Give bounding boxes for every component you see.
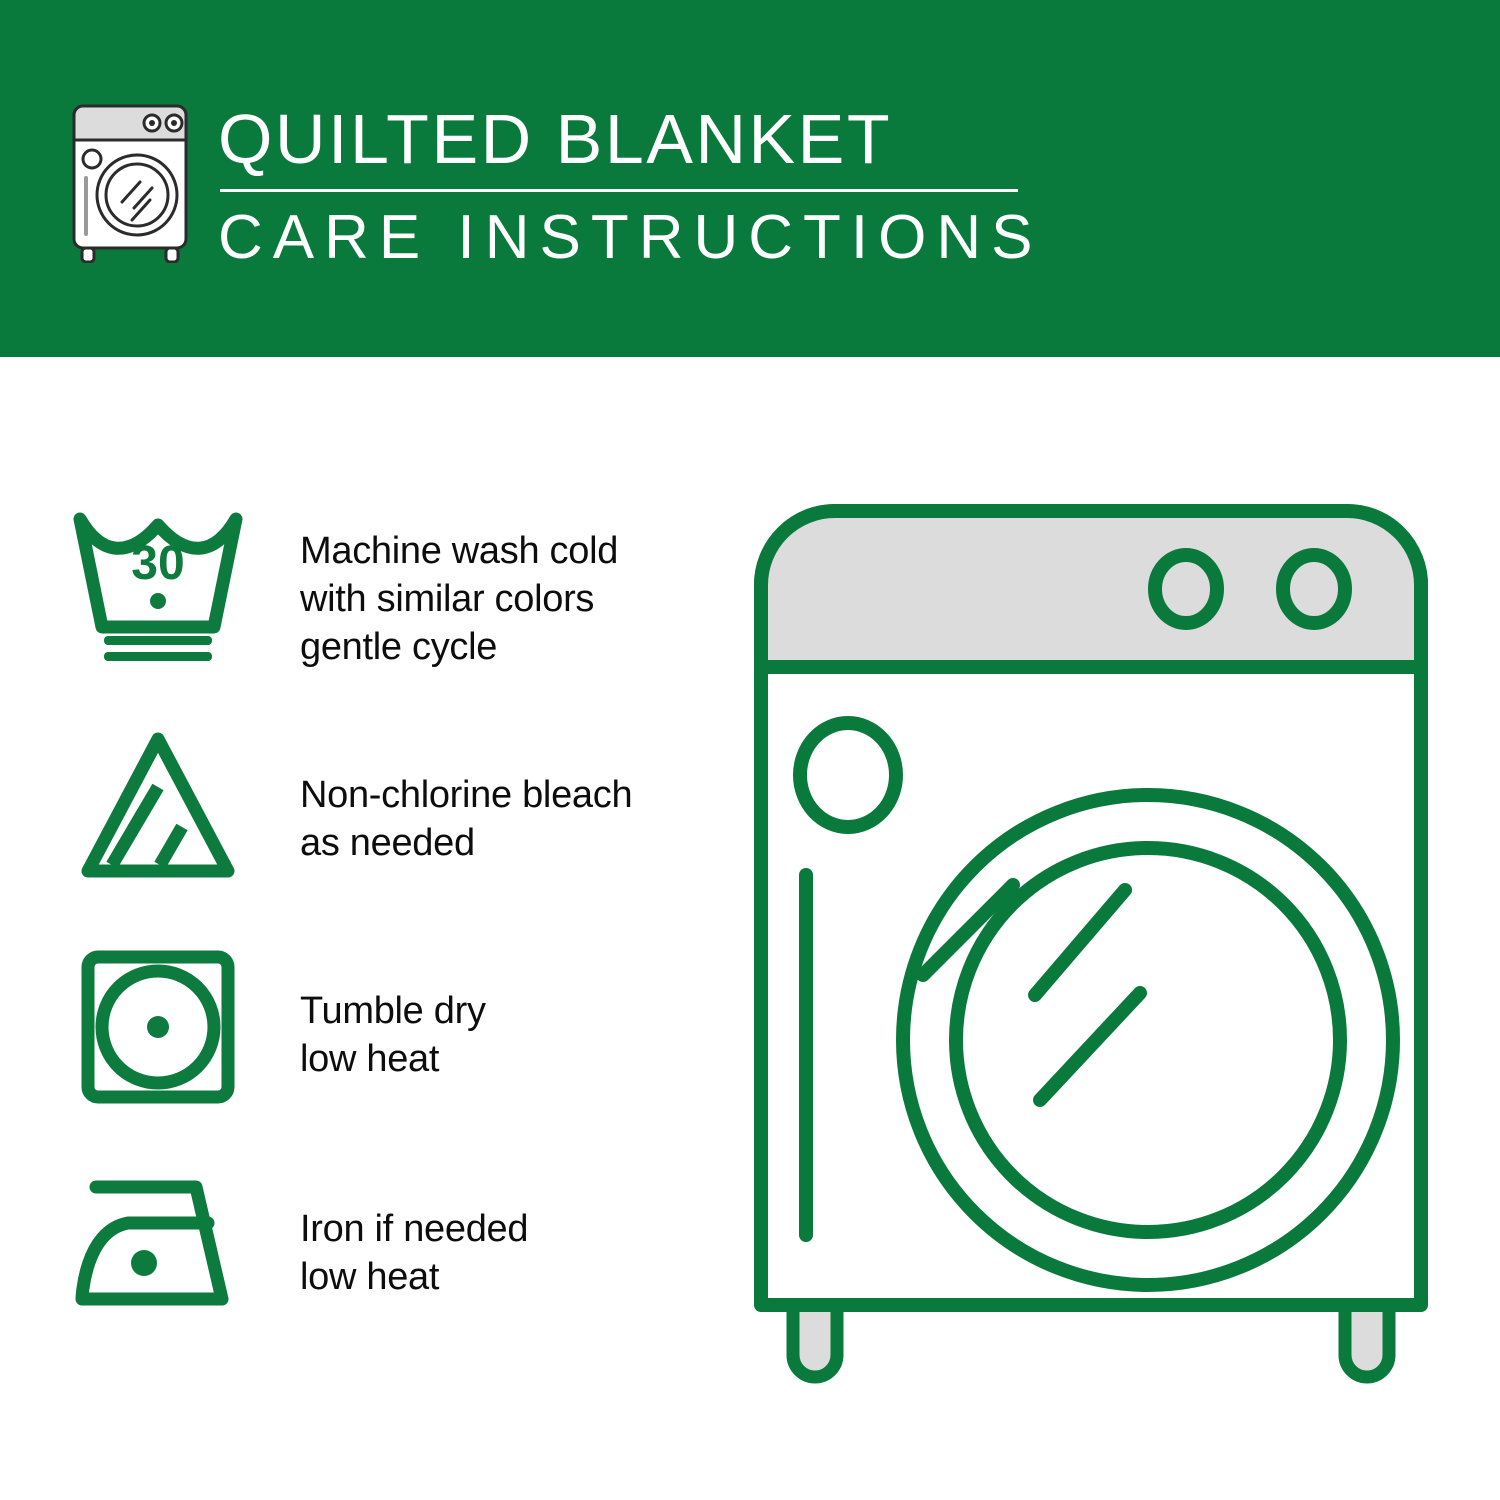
care-label-line: low heat — [300, 1035, 720, 1083]
care-label-line: as needed — [300, 819, 720, 867]
wash-temperature-label: 30 — [131, 537, 184, 590]
care-label: Machine wash cold with similar colors ge… — [300, 527, 720, 671]
care-instructions-page: QUILTED BLANKET CARE INSTRUCTIONS 30 Mac… — [0, 0, 1500, 1500]
list-item: Non-chlorine bleach as needed — [60, 725, 720, 945]
door-dial — [800, 723, 896, 827]
control-knob — [1155, 555, 1217, 623]
page-subtitle: CARE INSTRUCTIONS — [218, 201, 1058, 275]
care-label: Iron if needed low heat — [300, 1205, 720, 1301]
care-label-line: Iron if needed — [300, 1205, 720, 1253]
care-label-line: Non-chlorine bleach — [300, 771, 720, 819]
care-label-line: Machine wash cold — [300, 527, 720, 575]
care-instruction-list: 30 Machine wash cold with similar colors… — [60, 505, 720, 1385]
non-chlorine-bleach-icon — [72, 725, 244, 885]
list-item: Iron if needed low heat — [60, 1165, 720, 1385]
drum-inner-ring — [956, 848, 1340, 1232]
header-content: QUILTED BLANKET CARE INSTRUCTIONS — [60, 98, 1060, 273]
list-item: 30 Machine wash cold with similar colors… — [60, 505, 720, 725]
care-label-line: with similar colors — [300, 575, 720, 623]
machine-wash-30-icon: 30 — [72, 505, 244, 665]
header-title-group: QUILTED BLANKET CARE INSTRUCTIONS — [218, 96, 1058, 275]
page-title: QUILTED BLANKET — [218, 96, 1058, 182]
care-label-line: Tumble dry — [300, 987, 720, 1035]
washing-machine-icon — [60, 98, 200, 263]
control-knob — [1283, 555, 1345, 623]
care-label-line: low heat — [300, 1253, 720, 1301]
iron-low-heat-icon — [72, 1165, 244, 1325]
care-label: Non-chlorine bleach as needed — [300, 771, 720, 867]
title-divider — [220, 189, 1018, 192]
tumble-dry-low-icon — [72, 945, 244, 1105]
front-load-washing-machine-illustration — [745, 495, 1455, 1415]
header-band: QUILTED BLANKET CARE INSTRUCTIONS — [0, 0, 1500, 357]
care-label-line: gentle cycle — [300, 623, 720, 671]
care-label: Tumble dry low heat — [300, 987, 720, 1083]
list-item: Tumble dry low heat — [60, 945, 720, 1165]
